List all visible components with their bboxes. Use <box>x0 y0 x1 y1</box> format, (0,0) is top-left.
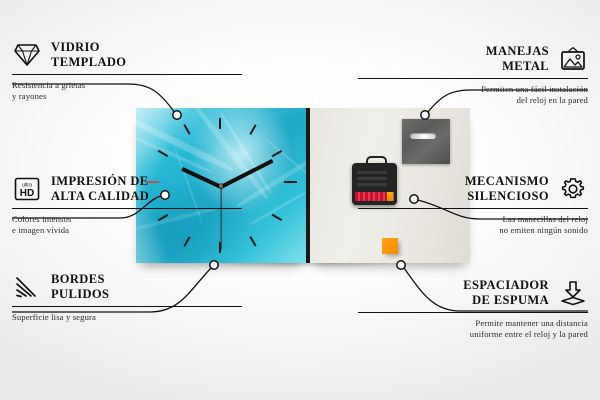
clock-tick <box>249 124 256 134</box>
svg-text:HD: HD <box>20 188 34 199</box>
feature-espaciador-espuma: ESPACIADOR DE ESPUMA Permite mantener un… <box>358 278 588 341</box>
feature-description: Permiten una fácil instalación del reloj… <box>358 84 588 107</box>
feature-header: MECANISMO SILENCIOSO <box>358 174 588 204</box>
clock-tick <box>219 118 221 129</box>
clock-tick <box>183 236 190 246</box>
gear-icon <box>558 174 588 204</box>
feature-impresion-alta-calidad: ultra HD IMPRESIÓN DE ALTA CALIDAD Color… <box>12 174 242 237</box>
product-infographic: VIDRIO TEMPLADO Resistencia a grietas y … <box>0 0 600 400</box>
feature-header: ESPACIADOR DE ESPUMA <box>358 278 588 308</box>
feature-title: MECANISMO SILENCIOSO <box>465 174 549 204</box>
picture-frame-icon <box>558 44 588 74</box>
ultra-hd-icon: ultra HD <box>12 174 42 204</box>
feature-divider <box>358 312 588 313</box>
feature-header: BORDES PULIDOS <box>12 272 242 302</box>
feature-title: ESPACIADOR DE ESPUMA <box>463 278 549 308</box>
hanger-slot <box>410 133 436 139</box>
orange-foam-spacer <box>382 238 398 254</box>
feature-description: Superficie lisa y segura <box>12 312 242 323</box>
clock-tick <box>272 214 282 221</box>
feature-header: VIDRIO TEMPLADO <box>12 40 242 70</box>
diamond-icon <box>12 40 42 70</box>
clock-tick <box>284 181 297 183</box>
mechanism-hook <box>366 156 387 167</box>
clock-tick <box>183 124 190 134</box>
foam-spacer-icon <box>558 278 588 308</box>
clock-tick <box>249 236 256 246</box>
feature-bordes-pulidos: BORDES PULIDOS Superficie lisa y segura <box>12 272 242 323</box>
feature-title: IMPRESIÓN DE ALTA CALIDAD <box>51 174 149 204</box>
feature-vidrio-templado: VIDRIO TEMPLADO Resistencia a grietas y … <box>12 40 242 103</box>
clock-center-pivot <box>219 184 223 188</box>
feature-description: Colores intensos e imagen vívida <box>12 214 242 237</box>
metal-hanger-plate <box>402 119 450 164</box>
feature-divider <box>12 208 242 209</box>
feature-title: VIDRIO TEMPLADO <box>51 40 126 70</box>
feature-description: Resistencia a grietas y rayones <box>12 80 242 103</box>
feature-title: MANEJAS METAL <box>486 44 549 74</box>
feature-description: Las manecillas del reloj no emiten ningú… <box>358 214 588 237</box>
feature-divider <box>12 306 242 307</box>
feature-divider <box>358 208 588 209</box>
feature-title: BORDES PULIDOS <box>51 272 109 302</box>
feature-header: MANEJAS METAL <box>358 44 588 74</box>
feature-header: ultra HD IMPRESIÓN DE ALTA CALIDAD <box>12 174 242 204</box>
feature-mecanismo-silencioso: MECANISMO SILENCIOSO Las manecillas del … <box>358 174 588 237</box>
polished-edges-icon <box>12 272 42 302</box>
feature-description: Permite mantener una distancia uniforme … <box>358 318 588 341</box>
feature-divider <box>358 78 588 79</box>
feature-divider <box>12 74 242 75</box>
feature-manejas-metal: MANEJAS METAL Permiten una fácil instala… <box>358 44 588 107</box>
